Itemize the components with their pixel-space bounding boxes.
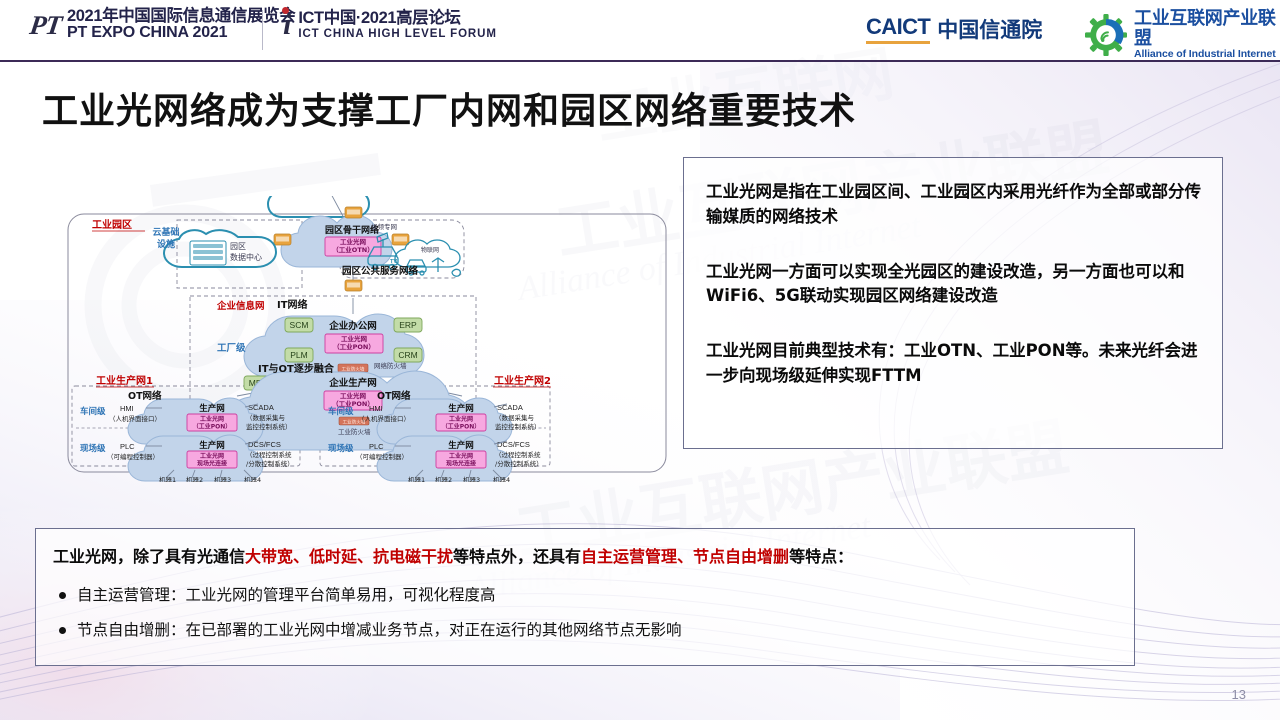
otn-tag-line1: 工业光网 xyxy=(340,237,367,246)
app-crm-label: CRM xyxy=(398,350,417,360)
features-lead-part-1: 工业光网，除了具有光通信 xyxy=(53,547,245,566)
prod2-scada-sub1: （数据采集与 xyxy=(495,413,534,422)
prod2-machine-1: 机器1 xyxy=(408,475,425,482)
info-paragraph-1: 工业光网是指在工业园区间、工业园区内采用光纤作为全部或部分传输媒质的网络技术 xyxy=(706,180,1202,230)
pt-expo-mark-icon: PT xyxy=(28,10,63,41)
prod1-dcs-label: DCS/FCS xyxy=(248,440,281,449)
features-lead-highlight-1: 大带宽、低时延、抗电磁干扰 xyxy=(245,547,453,566)
app-plm: PLM xyxy=(285,348,313,362)
prod1-field-level-label: 现场级 xyxy=(80,443,106,454)
it-ot-fusion-label: IT与OT逐步融合 xyxy=(258,362,335,375)
otn-tag-line2: （工业OTN） xyxy=(332,245,373,254)
firewall-label-bottom: 工业防火墙 xyxy=(338,427,371,436)
prod1-machine-1: 机器1 xyxy=(159,475,176,482)
prod-net2-label: 工业生产网2 xyxy=(494,374,551,387)
it-network-label: IT网络 xyxy=(277,298,308,311)
prod1-workshop-net-label: 生产网 xyxy=(199,403,225,414)
prod1-workshop-pon-line1: 工业光网 xyxy=(200,415,224,423)
enterprise-prod-net-label: 企业生产网 xyxy=(328,377,377,389)
caict-logo: CAICT 中国信通院 xyxy=(866,14,1042,44)
prod1-hmi-sub: （人机界面接口） xyxy=(109,414,161,423)
feature-bullet-2: 节点自由增删：在已部署的工业光网中增减业务节点，对正在运行的其他网络节点无影响 xyxy=(77,620,682,641)
page-title: 工业光网络成为支撑工厂内网和园区网络重要技术 xyxy=(42,82,856,134)
prod2-machine-4: 机器4 xyxy=(493,475,510,482)
prod1-field-optical-line1: 工业光网 xyxy=(200,452,224,460)
router-icon-bottom xyxy=(345,280,362,291)
app-erp: ERP xyxy=(394,318,422,332)
prod2-machine-2: 机器2 xyxy=(435,475,452,482)
app-erp-label: ERP xyxy=(399,320,417,330)
router-icon-top xyxy=(345,207,362,218)
prod1-machine-2: 机器2 xyxy=(186,475,203,482)
prod2-field-optical-line2: 现场光连接 xyxy=(446,460,476,468)
prod2-field-net-label: 生产网 xyxy=(448,440,474,451)
prod2-scada-sub2: 监控控制系统） xyxy=(495,422,541,431)
info-paragraph-2: 工业光网一方面可以实现全光园区的建设改造，另一方面也可以和WiFi6、5G联动实… xyxy=(706,260,1202,310)
prod1-hmi-label: HMI xyxy=(120,404,134,413)
prod1-machine-4: 机器4 xyxy=(244,475,261,482)
diagram-svg: .cloudF{fill:#c2d4ea;stroke:#9ab6d8;stro… xyxy=(62,196,674,482)
prod-net1-label: 工业生产网1 xyxy=(96,374,153,387)
prod2-plc-sub: （可编程控制器） xyxy=(356,452,408,461)
firewall-badge-label-top: 工业防火墙 xyxy=(342,365,365,372)
router-icon-right xyxy=(392,234,409,245)
video-net-label: 视频专网 xyxy=(371,222,397,231)
cloud-infra-label-line2: 设施 xyxy=(157,238,175,250)
prod2-field-level-label: 现场级 xyxy=(328,443,354,454)
office-pon-tag-line1: 工业光网 xyxy=(341,334,368,343)
ict-forum-logo: i ICT中国·2021高层论坛 ICT CHINA HIGH LEVEL FO… xyxy=(283,8,497,42)
prod1-plc-sub: （可编程控制器） xyxy=(107,452,159,461)
list-item: 节点自由增删：在已部署的工业光网中增减业务节点，对正在运行的其他网络节点无影响 xyxy=(59,620,1114,641)
enterprise-prod-pon-line1: 工业光网 xyxy=(340,391,367,400)
ict-forum-title-en: ICT CHINA HIGH LEVEL FORUM xyxy=(298,28,496,40)
park-data-center-cloud: 园区 数据中心 xyxy=(164,230,276,267)
ict-forum-title-cn: ICT中国·2021高层论坛 xyxy=(298,10,496,27)
prod2-dcs-sub2: /分散控制系统） xyxy=(495,459,543,468)
firewall-label-top: 网络防火墙 xyxy=(374,361,407,370)
cloud-infra-label-line1: 云基础 xyxy=(152,226,179,238)
prod2-dcs-sub1: （过程控制系统 xyxy=(495,450,541,459)
features-box: 工业光网，除了具有光通信大带宽、低时延、抗电磁干扰等特点外，还具有自主运营管理、… xyxy=(35,528,1135,666)
feature-bullet-1: 自主运营管理：工业光网的管理平台简单易用，可视化程度高 xyxy=(77,585,496,606)
app-crm: CRM xyxy=(394,348,422,362)
features-lead: 工业光网，除了具有光通信大带宽、低时延、抗电磁干扰等特点外，还具有自主运营管理、… xyxy=(53,546,1114,568)
prod1-ot-network-label: OT网络 xyxy=(128,390,162,402)
aii-label-cn: 工业互联网产业联盟 xyxy=(1134,9,1280,49)
prod1-dcs-sub2: /分散控制系统） xyxy=(246,459,294,468)
prod2-scada-label: SCADA xyxy=(497,403,523,412)
server-rack-icon xyxy=(190,241,226,265)
bullet-dot-icon xyxy=(59,627,66,634)
app-scm-label: SCM xyxy=(290,320,309,330)
aii-label-en: Alliance of Industrial Internet xyxy=(1134,49,1280,61)
caict-label-cn: 中国信通院 xyxy=(937,14,1042,44)
app-plm-label: PLM xyxy=(290,350,307,360)
ict-forum-mark-icon: i xyxy=(283,8,291,42)
firewall-badge-top: 工业防火墙 xyxy=(338,364,368,372)
enterprise-info-net-label: 企业信息网 xyxy=(216,300,265,312)
prod2-workshop-pon-line1: 工业光网 xyxy=(449,415,473,423)
factory-level-label: 工厂级 xyxy=(217,342,246,354)
caict-label-en: CAICT xyxy=(866,14,930,44)
info-paragraph-3: 工业光网目前典型技术有：工业OTN、工业PON等。未来光纤会进一步向现场级延伸实… xyxy=(706,339,1202,389)
bullet-dot-icon xyxy=(59,592,66,599)
prod1-scada-label: SCADA xyxy=(248,403,274,412)
park-dc-label-line1: 园区 xyxy=(230,242,246,251)
prod1-dcs-sub1: （过程控制系统 xyxy=(246,450,292,459)
app-scm: SCM xyxy=(285,318,313,332)
page-header: PT 2021年中国国际信息通信展览会 PT EXPO CHINA 2021 i… xyxy=(0,0,1280,62)
features-lead-highlight-2: 自主运营管理、节点自由增删 xyxy=(581,547,789,566)
prod2-machine-3: 机器3 xyxy=(463,475,480,482)
public-service-label: 园区公共服务网络 xyxy=(342,265,419,277)
header-divider xyxy=(262,10,263,50)
office-pon-tag-line2: （工业PON） xyxy=(333,342,375,351)
features-lead-part-3: 等特点： xyxy=(789,547,853,566)
router-icon-left xyxy=(274,234,291,245)
prod2-hmi-label: HMI xyxy=(369,404,383,413)
prod1-scada-sub1: （数据采集与 xyxy=(246,413,285,422)
prod2-dcs-label: DCS/FCS xyxy=(497,440,530,449)
office-net-label: 企业办公网 xyxy=(328,320,377,332)
definition-info-box: 工业光网是指在工业园区间、工业园区内采用光纤作为全部或部分传输媒质的网络技术 工… xyxy=(683,157,1223,449)
prod1-workshop-pon-line2: （工业PON） xyxy=(193,423,232,431)
list-item: 自主运营管理：工业光网的管理平台简单易用，可视化程度高 xyxy=(59,585,1114,606)
features-lead-part-2: 等特点外，还具有 xyxy=(453,547,581,566)
prod1-plc-label: PLC xyxy=(120,442,135,451)
prod2-workshop-level-label: 车间级 xyxy=(328,406,354,417)
pt-expo-logo: PT 2021年中国国际信息通信展览会 PT EXPO CHINA 2021 xyxy=(30,8,295,42)
prod2-field-optical-line1: 工业光网 xyxy=(449,452,473,460)
prod1-workshop-level-label: 车间级 xyxy=(80,406,106,417)
page-number: 13 xyxy=(1232,687,1246,702)
prod1-field-optical-line2: 现场光连接 xyxy=(197,460,227,468)
prod2-hmi-sub: （人机界面接口） xyxy=(358,414,410,423)
park-dc-label-line2: 数据中心 xyxy=(230,252,262,262)
prod2-plc-label: PLC xyxy=(369,442,384,451)
prod2-ot-network-label: OT网络 xyxy=(377,390,411,402)
aii-logo: 工业互联网产业联盟 Alliance of Industrial Interne… xyxy=(1085,9,1280,60)
prod1-machine-3: 机器3 xyxy=(214,475,231,482)
prod1-scada-sub2: 监控控制系统） xyxy=(246,422,292,431)
iot-label: 物联网 xyxy=(421,246,439,254)
architecture-diagram: .cloudF{fill:#c2d4ea;stroke:#9ab6d8;stro… xyxy=(62,196,674,482)
industrial-park-label: 工业园区 xyxy=(92,218,132,231)
prod2-workshop-net-label: 生产网 xyxy=(448,403,474,414)
prod2-workshop-pon-line2: （工业PON） xyxy=(442,423,481,431)
gear-icon xyxy=(1085,14,1127,56)
prod1-field-net-label: 生产网 xyxy=(199,440,225,451)
